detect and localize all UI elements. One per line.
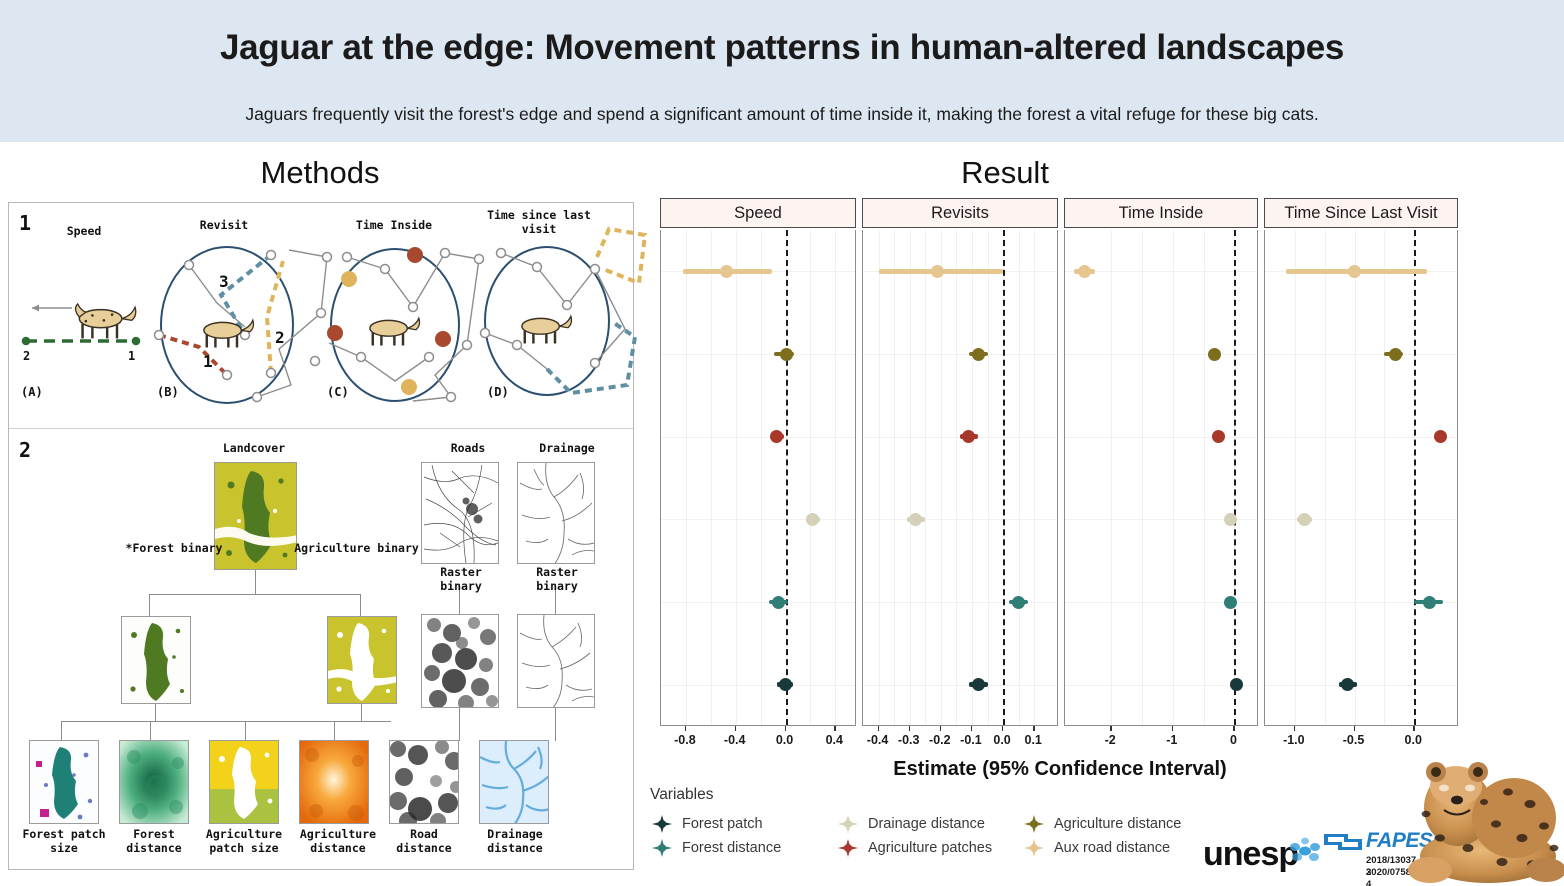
- connector-agri-binary: [360, 594, 361, 616]
- facet-plot-area: [862, 230, 1058, 726]
- legend-marker-icon: [650, 813, 674, 835]
- point-estimate-dot: [1212, 430, 1225, 443]
- connector-drainage-out: [555, 708, 556, 741]
- legend-item-label: Drainage distance: [868, 816, 985, 832]
- point-estimate-dot: [1348, 265, 1361, 278]
- result-heading: Result: [860, 155, 1150, 191]
- point-estimate-dot: [909, 513, 922, 526]
- agriculture-distance-thumbnail: [299, 740, 369, 824]
- x-minor-gridline: [810, 230, 811, 725]
- forest-plot: Speed-0.8-0.40.00.4Revisits-0.4-0.3-0.2-…: [660, 198, 1460, 743]
- zero-reference-line: [1234, 230, 1236, 725]
- x-minor-gridline: [956, 230, 957, 725]
- methods-panel-2: 2 Landcover Roads Drainage: [9, 430, 633, 869]
- connector-road-out: [459, 708, 460, 741]
- y-gridline: [1065, 354, 1257, 355]
- x-gridline: [910, 230, 911, 725]
- facet-strip-label: Time Since Last Visit: [1264, 198, 1458, 228]
- point-estimate-dot: [972, 678, 985, 691]
- facet-strip-label: Revisits: [862, 198, 1058, 228]
- x-tick-mark: [685, 726, 686, 731]
- point-estimate-dot: [806, 513, 819, 526]
- zero-reference-line: [786, 230, 788, 725]
- drainage-label: Drainage: [519, 442, 615, 456]
- forest-binary-thumbnail: [121, 616, 191, 704]
- facet-panel-time-inside: Time Inside-2-10: [1064, 198, 1258, 743]
- facet-title-text: Speed: [734, 204, 782, 223]
- legend-item[interactable]: Forest distance: [650, 836, 781, 860]
- x-tick-label: -0.8: [663, 733, 707, 747]
- legend-item[interactable]: Drainage distance: [836, 812, 985, 836]
- forest-patch-size-label: Forest patch size: [15, 828, 113, 856]
- point-estimate-dot: [1224, 596, 1237, 609]
- methods-figure: 1 Speed Revisit Time Inside Time since l…: [8, 202, 634, 870]
- x-tick-label: -2: [1088, 733, 1132, 747]
- x-minor-gridline: [1384, 230, 1385, 725]
- drainage-distance-thumbnail: [479, 740, 549, 824]
- connector-forest-split: [61, 721, 251, 722]
- drainage-thumbnail: [517, 462, 595, 564]
- point-estimate-dot: [779, 678, 792, 691]
- facet-plot-area: [660, 230, 856, 726]
- y-gridline: [863, 685, 1057, 686]
- x-tick-label: -0.5: [1332, 733, 1376, 747]
- drainage-raster-binary-thumbnail: [517, 614, 595, 708]
- point-estimate-dot: [1208, 348, 1221, 361]
- unesp-logo: unesp: [1203, 835, 1298, 874]
- x-minor-gridline: [894, 230, 895, 725]
- forest-patch-size-thumbnail: [29, 740, 99, 824]
- x-tick-label: -1: [1150, 733, 1194, 747]
- unesp-mark-icon: [1288, 836, 1322, 866]
- point-estimate-dot: [962, 430, 975, 443]
- connector-roads-raster: [459, 590, 460, 614]
- forest-distance-label: Forest distance: [112, 828, 196, 856]
- forest-binary-label: *Forest binary: [119, 542, 229, 556]
- facet-plot-area: [1064, 230, 1258, 726]
- x-tick-mark: [1354, 726, 1355, 731]
- legend-item-label: Agriculture patches: [868, 840, 992, 856]
- point-estimate-dot: [1389, 348, 1402, 361]
- chart-legend: Variables Forest patchForest distanceDra…: [650, 786, 1230, 870]
- x-gridline: [686, 230, 687, 725]
- facet-title-text: Time Since Last Visit: [1284, 204, 1437, 223]
- x-gridline: [941, 230, 942, 725]
- connector-drainage-raster: [555, 590, 556, 614]
- road-distance-thumbnail: [389, 740, 459, 824]
- agriculture-patch-size-thumbnail: [209, 740, 279, 824]
- x-tick-mark: [1110, 726, 1111, 731]
- diagram-b-tag: (B): [157, 385, 179, 399]
- agriculture-binary-thumbnail: [327, 616, 397, 704]
- x-tick-mark: [1033, 726, 1034, 731]
- point-estimate-dot: [772, 596, 785, 609]
- y-gridline: [661, 685, 855, 686]
- x-gridline: [1173, 230, 1174, 725]
- x-minor-gridline: [1142, 230, 1143, 725]
- point-estimate-dot: [1423, 596, 1436, 609]
- x-tick-mark: [940, 726, 941, 731]
- x-gridline: [1295, 230, 1296, 725]
- point-estimate-dot: [1341, 678, 1354, 691]
- x-gridline: [835, 230, 836, 725]
- y-gridline: [1265, 354, 1457, 355]
- diagram-d-tag: (D): [487, 385, 509, 399]
- connector-forest-binary: [149, 594, 150, 616]
- legend-item-label: Agriculture distance: [1054, 816, 1181, 832]
- connector-agri-split: [245, 721, 391, 722]
- legend-marker-icon: [1022, 837, 1046, 859]
- legend-item[interactable]: Agriculture patches: [836, 836, 992, 860]
- x-gridline: [972, 230, 973, 725]
- x-gridline: [1034, 230, 1035, 725]
- x-tick-label: 0: [1211, 733, 1255, 747]
- speed-mark-2: 2: [23, 349, 30, 363]
- connector-forest-out1: [61, 721, 62, 741]
- svg-text:2: 2: [275, 328, 285, 347]
- x-tick-mark: [834, 726, 835, 731]
- connector-landcover-split: [149, 594, 361, 595]
- time-inside-diagram: [317, 225, 497, 405]
- facet-panel-time-since-last-visit: Time Since Last Visit-1.0-0.50.0: [1264, 198, 1458, 743]
- legend-item[interactable]: Aux road distance: [1022, 836, 1170, 860]
- legend-item-label: Forest patch: [682, 816, 763, 832]
- drainage-raster-binary-label: Raster binary: [517, 566, 597, 593]
- point-estimate-dot: [1224, 513, 1237, 526]
- y-gridline: [1265, 437, 1457, 438]
- x-tick-mark: [735, 726, 736, 731]
- agriculture-binary-label: Agriculture binary: [294, 542, 419, 556]
- facet-title-text: Revisits: [931, 204, 989, 223]
- y-gridline: [863, 519, 1057, 520]
- methods-panel-1: 1 Speed Revisit Time Inside Time since l…: [9, 203, 633, 429]
- landcover-label: Landcover: [184, 442, 324, 456]
- x-tick-mark: [1294, 726, 1295, 731]
- svg-text:3: 3: [219, 272, 229, 291]
- connector-landcover-down: [255, 570, 256, 595]
- y-gridline: [1065, 685, 1257, 686]
- x-tick-mark: [971, 726, 972, 731]
- x-tick-mark: [909, 726, 910, 731]
- revisit-diagram: 3 2 1: [149, 225, 334, 405]
- point-estimate-dot: [770, 430, 783, 443]
- svg-text:1: 1: [203, 352, 213, 371]
- y-gridline: [661, 354, 855, 355]
- point-estimate-dot: [1434, 430, 1447, 443]
- agriculture-patch-size-label: Agriculture patch size: [195, 828, 293, 856]
- x-gridline: [1111, 230, 1112, 725]
- roads-raster-binary-label: Raster binary: [421, 566, 501, 593]
- speed-mark-1: 1: [128, 349, 135, 363]
- facet-plot-area: [1264, 230, 1458, 726]
- connector-forest-down: [155, 704, 156, 722]
- y-gridline: [1265, 685, 1457, 686]
- x-minor-gridline: [1325, 230, 1326, 725]
- diagram-a-title: Speed: [29, 225, 139, 239]
- x-tick-mark: [1413, 726, 1414, 731]
- x-tick-label: 0.0: [763, 733, 807, 747]
- page-subtitle: Jaguars frequently visit the forest's ed…: [0, 104, 1564, 125]
- x-minor-gridline: [925, 230, 926, 725]
- roads-label: Roads: [423, 442, 513, 456]
- x-gridline: [1355, 230, 1356, 725]
- x-tick-mark: [1233, 726, 1234, 731]
- agriculture-distance-label: Agriculture distance: [292, 828, 384, 856]
- x-tick-mark: [1002, 726, 1003, 731]
- y-gridline: [661, 437, 855, 438]
- x-tick-label: 0.0: [1391, 733, 1435, 747]
- x-minor-gridline: [988, 230, 989, 725]
- y-gridline: [1265, 519, 1457, 520]
- facet-strip-label: Time Inside: [1064, 198, 1258, 228]
- point-estimate-dot: [780, 348, 793, 361]
- x-minor-gridline: [1204, 230, 1205, 725]
- legend-item[interactable]: Agriculture distance: [1022, 812, 1181, 836]
- y-gridline: [661, 602, 855, 603]
- point-estimate-dot: [1078, 265, 1091, 278]
- time-since-last-visit-diagram: [475, 217, 655, 407]
- x-tick-label: -1.0: [1272, 733, 1316, 747]
- x-minor-gridline: [1019, 230, 1020, 725]
- facet-panel-revisits: Revisits-0.4-0.3-0.2-0.10.00.1: [862, 198, 1058, 743]
- roads-raster-binary-thumbnail: [421, 614, 499, 708]
- road-distance-label: Road distance: [389, 828, 459, 856]
- zero-reference-line: [1003, 230, 1005, 725]
- x-tick-mark: [785, 726, 786, 731]
- forest-distance-thumbnail: [119, 740, 189, 824]
- diagram-c-tag: (C): [327, 385, 349, 399]
- y-gridline: [661, 519, 855, 520]
- x-tick-mark: [878, 726, 879, 731]
- x-gridline: [736, 230, 737, 725]
- point-estimate-dot: [1012, 596, 1025, 609]
- x-tick-label: -0.4: [713, 733, 757, 747]
- speed-diagram: [14, 263, 164, 393]
- x-gridline: [879, 230, 880, 725]
- point-estimate-dot: [1230, 678, 1243, 691]
- legend-marker-icon: [836, 813, 860, 835]
- x-tick-label: 0.4: [812, 733, 856, 747]
- diagram-a-tag: (A): [21, 385, 43, 399]
- x-minor-gridline: [711, 230, 712, 725]
- methods-heading: Methods: [160, 155, 480, 191]
- roads-thumbnail: [421, 462, 499, 564]
- zero-reference-line: [1414, 230, 1416, 725]
- y-gridline: [1065, 437, 1257, 438]
- connector-agri-out1: [245, 721, 246, 741]
- legend-marker-icon: [1022, 813, 1046, 835]
- point-estimate-dot: [931, 265, 944, 278]
- facet-strip-label: Speed: [660, 198, 856, 228]
- legend-marker-icon: [836, 837, 860, 859]
- point-estimate-dot: [972, 348, 985, 361]
- page-title: Jaguar at the edge: Movement patterns in…: [0, 28, 1564, 68]
- x-tick-mark: [1172, 726, 1173, 731]
- facet-panel-speed: Speed-0.8-0.40.00.4: [660, 198, 856, 743]
- legend-title: Variables: [650, 786, 713, 804]
- point-estimate-dot: [720, 265, 733, 278]
- connector-agri-down: [361, 704, 362, 722]
- point-estimate-dot: [1298, 513, 1311, 526]
- connector-forest-out2: [150, 721, 151, 741]
- y-gridline: [863, 354, 1057, 355]
- legend-item-label: Aux road distance: [1054, 840, 1170, 856]
- drainage-distance-label: Drainage distance: [475, 828, 555, 856]
- legend-item-label: Forest distance: [682, 840, 781, 856]
- x-axis-title: Estimate (95% Confidence Interval): [660, 758, 1460, 781]
- x-minor-gridline: [761, 230, 762, 725]
- x-tick-label: 0.1: [1011, 733, 1055, 747]
- facet-title-text: Time Inside: [1119, 204, 1204, 223]
- legend-marker-icon: [650, 837, 674, 859]
- connector-agri-out2: [334, 721, 335, 741]
- jaguar-photo: [1396, 752, 1564, 886]
- legend-item[interactable]: Forest patch: [650, 812, 763, 836]
- panel-2-number: 2: [19, 438, 31, 462]
